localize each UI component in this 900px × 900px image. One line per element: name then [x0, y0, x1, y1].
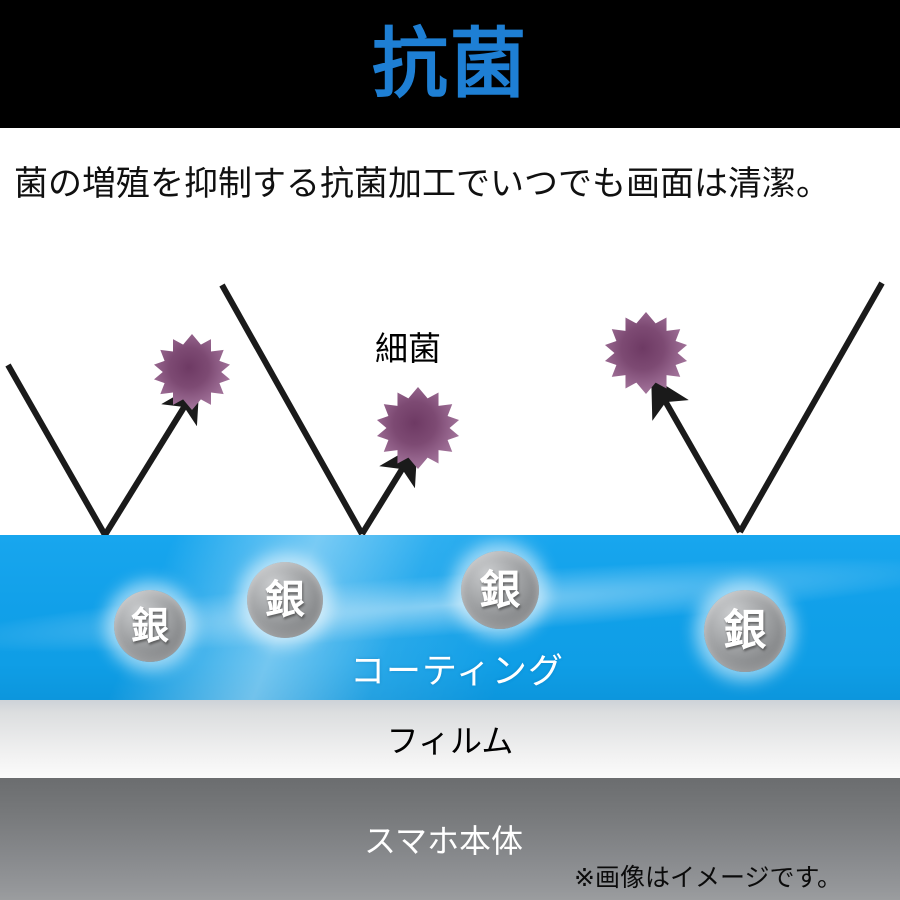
diagram-area: 細菌	[0, 232, 900, 535]
silver-particle-3: 銀	[461, 551, 539, 629]
bacteria-germ-2	[377, 387, 459, 469]
header-band: 抗菌	[0, 0, 900, 128]
antibacterial-infographic: 抗菌 菌の増殖を抑制する抗菌加工でいつでも画面は清潔。	[0, 0, 900, 900]
bacteria-label: 細菌	[375, 322, 441, 370]
subtitle-text: 菌の増殖を抑制する抗菌加工でいつでも画面は清潔。	[0, 156, 830, 205]
disclaimer-text: ※画像はイメージです。	[574, 858, 842, 894]
coating-label: コーティング	[350, 643, 564, 694]
coating-layer: 銀 銀 銀 銀 コーティング	[0, 535, 900, 700]
subtitle-band: 菌の増殖を抑制する抗菌加工でいつでも画面は清潔。	[0, 128, 900, 232]
film-layer: フィルム	[0, 700, 900, 778]
bounce-path-3	[664, 283, 882, 532]
bacteria-germ-3	[605, 312, 687, 394]
silver-particle-2: 銀	[247, 562, 323, 638]
bacteria-germ-1	[154, 334, 230, 410]
bounce-arrows-svg	[0, 232, 900, 535]
silver-particle-label: 銀	[265, 580, 305, 620]
bounce-path-1	[8, 365, 186, 535]
silver-particle-label: 銀	[480, 570, 521, 611]
film-label: フィルム	[387, 716, 514, 762]
phone-body-layer: スマホ本体 ※画像はイメージです。	[0, 778, 900, 900]
silver-particle-1: 銀	[114, 590, 186, 662]
phone-body-label: スマホ本体	[364, 816, 523, 862]
silver-particle-4: 銀	[704, 590, 786, 672]
silver-particle-label: 銀	[131, 607, 169, 645]
silver-particle-label: 銀	[724, 610, 767, 653]
page-title: 抗菌	[372, 26, 528, 102]
